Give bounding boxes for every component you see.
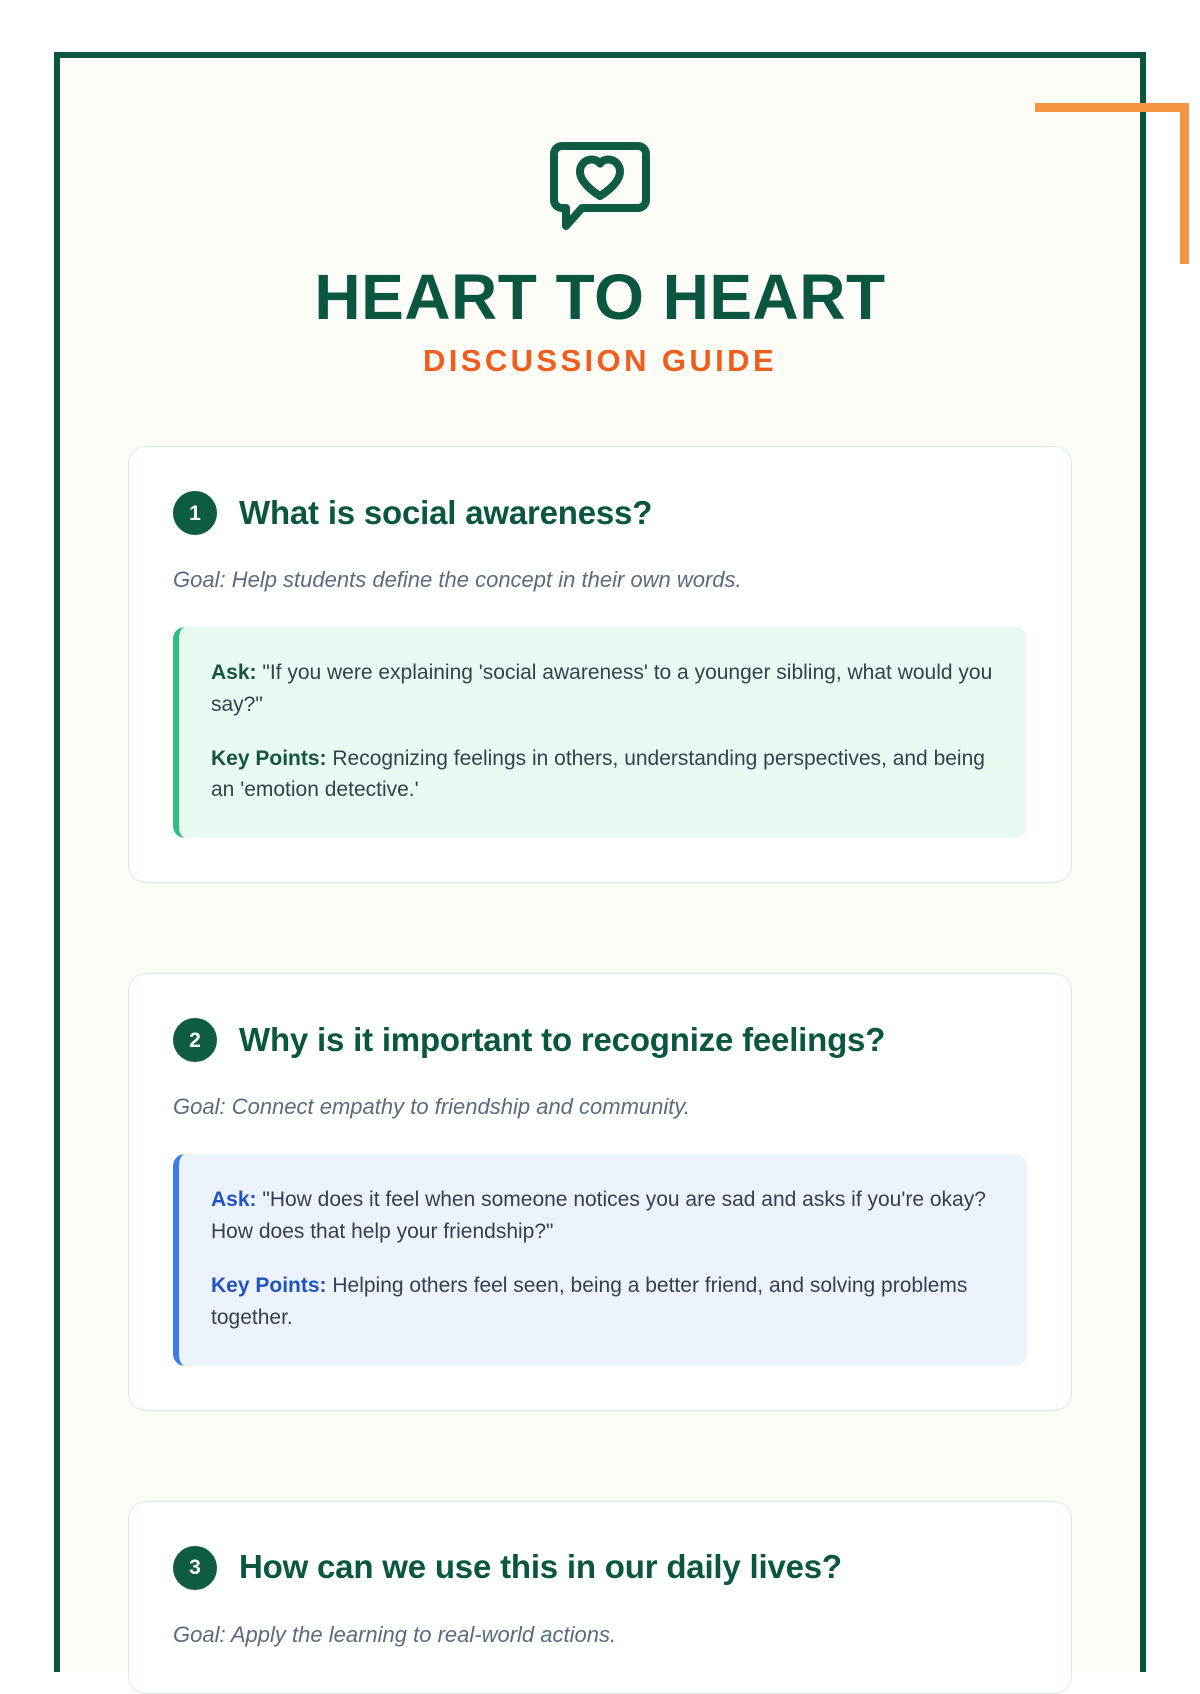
question-header: 2 Why is it important to recognize feeli…: [173, 1018, 1027, 1062]
page-content: HEART TO HEART DISCUSSION GUIDE 1 What i…: [60, 58, 1140, 1672]
question-title: Why is it important to recognize feeling…: [239, 1022, 885, 1059]
key-points-line: Key Points: Recognizing feelings in othe…: [211, 743, 993, 807]
question-card: 1 What is social awareness? Goal: Help s…: [128, 446, 1072, 883]
ask-label: Ask:: [211, 1188, 257, 1211]
question-callout: Ask: "How does it feel when someone noti…: [173, 1154, 1027, 1366]
speech-bubble-heart-icon: [548, 138, 652, 234]
masthead: HEART TO HEART DISCUSSION GUIDE: [128, 128, 1072, 376]
key-points-text: Recognizing feelings in others, understa…: [211, 747, 985, 802]
question-goal: Goal: Help students define the concept i…: [173, 565, 1027, 595]
key-points-line: Key Points: Helping others feel seen, be…: [211, 1270, 993, 1334]
orange-corner-accent-right: [1180, 103, 1189, 264]
ask-line: Ask: "How does it feel when someone noti…: [211, 1184, 993, 1248]
question-number-badge: 3: [173, 1546, 217, 1590]
page-subtitle: DISCUSSION GUIDE: [128, 345, 1072, 376]
key-points-label: Key Points:: [211, 1274, 327, 1297]
question-goal: Goal: Connect empathy to friendship and …: [173, 1092, 1027, 1122]
question-number-badge: 2: [173, 1018, 217, 1062]
question-card-list: 1 What is social awareness? Goal: Help s…: [128, 446, 1072, 1694]
guide-page-frame: HEART TO HEART DISCUSSION GUIDE 1 What i…: [54, 52, 1146, 1672]
question-card: 2 Why is it important to recognize feeli…: [128, 973, 1072, 1410]
orange-corner-accent-top: [1035, 103, 1189, 112]
ask-line: Ask: "If you were explaining 'social awa…: [211, 657, 993, 721]
key-points-label: Key Points:: [211, 747, 327, 770]
question-card: 3 How can we use this in our daily lives…: [128, 1501, 1072, 1694]
question-title: How can we use this in our daily lives?: [239, 1549, 842, 1586]
question-header: 3 How can we use this in our daily lives…: [173, 1546, 1027, 1590]
question-number-badge: 1: [173, 491, 217, 535]
question-title: What is social awareness?: [239, 495, 652, 532]
ask-text: "How does it feel when someone notices y…: [211, 1188, 986, 1243]
question-goal: Goal: Apply the learning to real-world a…: [173, 1620, 1027, 1650]
ask-text: "If you were explaining 'social awarenes…: [211, 661, 992, 716]
ask-label: Ask:: [211, 661, 257, 684]
question-callout: Ask: "If you were explaining 'social awa…: [173, 627, 1027, 839]
page-title: HEART TO HEART: [128, 265, 1072, 329]
question-header: 1 What is social awareness?: [173, 491, 1027, 535]
